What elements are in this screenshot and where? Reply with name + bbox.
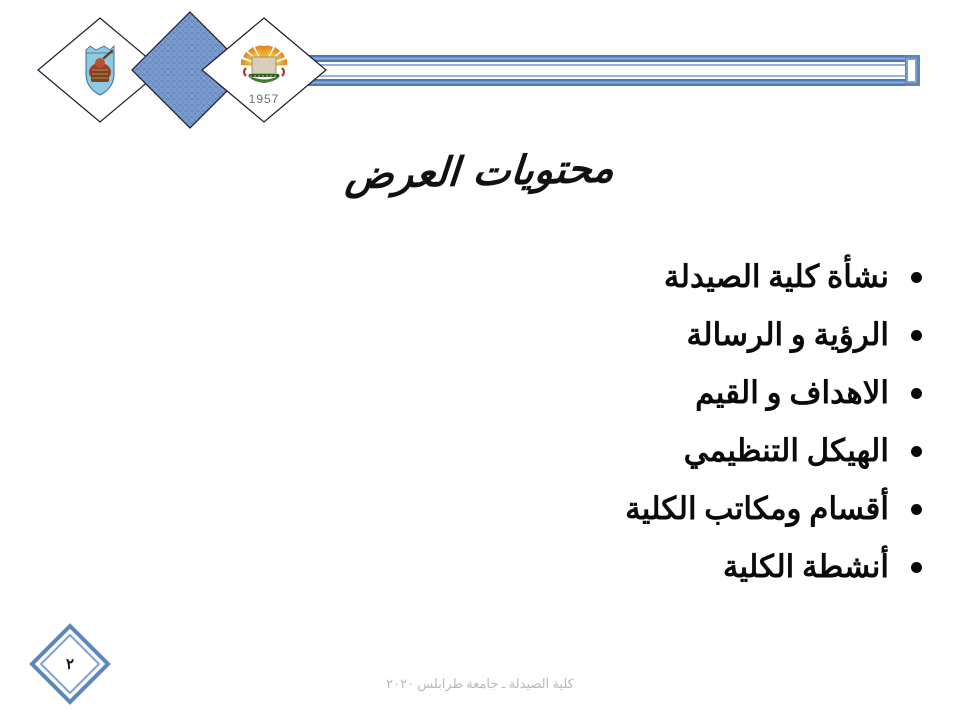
list-item[interactable]: نشأة كلية الصيدلة: [282, 248, 922, 306]
university-founding-year: 1957: [249, 92, 280, 106]
slide-footer: كلية الصيدلة ـ جامعة طرابلس ٢٠٢٠: [0, 676, 960, 692]
list-item-label: الهيكل التنظيمي: [684, 433, 889, 469]
list-item-label: الاهداف و القيم: [695, 375, 889, 411]
university-of-tripoli-emblem: 1957: [202, 18, 326, 122]
bullet-icon: [911, 562, 922, 573]
list-item-label: أقسام ومكاتب الكلية: [625, 491, 889, 527]
bullet-icon: [911, 272, 922, 283]
bullet-icon: [911, 504, 922, 515]
list-item-label: نشأة كلية الصيدلة: [664, 259, 889, 295]
page-number-badge: ٢: [28, 622, 112, 706]
bullet-icon: [911, 330, 922, 341]
page-number-text: ٢: [28, 622, 112, 706]
list-item[interactable]: أنشطة الكلية: [282, 538, 922, 596]
bullet-icon: [911, 446, 922, 457]
list-item[interactable]: أقسام ومكاتب الكلية: [282, 480, 922, 538]
list-item-label: الرؤية و الرسالة: [687, 317, 890, 353]
contents-list: نشأة كلية الصيدلة الرؤية و الرسالة الاهد…: [282, 248, 922, 596]
presentation-slide: 1957 محتويات العرض نشأة كلية الصيدلة الر…: [0, 0, 960, 720]
list-item[interactable]: الرؤية و الرسالة: [282, 306, 922, 364]
slide-header-band: 1957: [0, 0, 960, 140]
page-title: محتويات العرض: [0, 135, 960, 207]
list-item-label: أنشطة الكلية: [723, 549, 889, 585]
list-item[interactable]: الاهداف و القيم: [282, 364, 922, 422]
bullet-icon: [911, 388, 922, 399]
list-item[interactable]: الهيكل التنظيمي: [282, 422, 922, 480]
